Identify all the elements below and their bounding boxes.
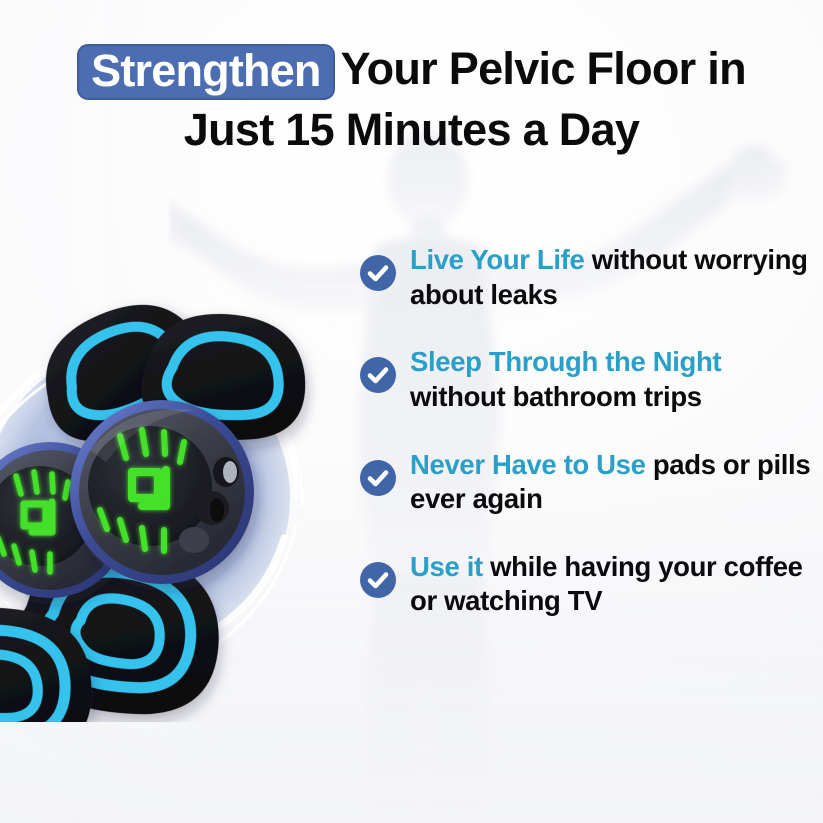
headline-highlight-badge: Strengthen xyxy=(77,44,335,100)
benefit-item-3: Never Have to Use pads or pills ever aga… xyxy=(360,448,815,517)
benefit-text-1: Live Your Life without worrying about le… xyxy=(410,243,815,312)
benefit-rest-2: without bathroom trips xyxy=(410,381,702,412)
check-circle-icon xyxy=(360,357,396,393)
benefits-list: Live Your Life without worrying about le… xyxy=(360,243,815,619)
benefit-text-4: Use it while having your coffee or watch… xyxy=(410,550,815,619)
check-circle-icon xyxy=(360,460,396,496)
benefit-text-2: Sleep Through the Night without bathroom… xyxy=(410,345,815,414)
check-circle-icon xyxy=(360,255,396,291)
check-circle-icon xyxy=(360,562,396,598)
benefit-item-1: Live Your Life without worrying about le… xyxy=(360,243,815,312)
benefit-item-2: Sleep Through the Night without bathroom… xyxy=(360,345,815,414)
headline-line-2: Just 15 Minutes a Day xyxy=(0,107,823,152)
benefit-text-3: Never Have to Use pads or pills ever aga… xyxy=(410,448,815,517)
benefit-highlight-4: Use it xyxy=(410,551,483,582)
benefit-highlight-2: Sleep Through the Night xyxy=(410,346,721,377)
marketing-product-banner: StrengthenYour Pelvic Floor in Just 15 M… xyxy=(0,0,823,823)
benefit-highlight-1: Live Your Life xyxy=(410,244,584,275)
benefit-item-4: Use it while having your coffee or watch… xyxy=(360,550,815,619)
control-unit-primary xyxy=(70,400,254,584)
headline-line-1: StrengthenYour Pelvic Floor in xyxy=(0,42,823,98)
benefit-highlight-3: Never Have to Use xyxy=(410,449,646,480)
page-title: StrengthenYour Pelvic Floor in Just 15 M… xyxy=(0,42,823,152)
headline-line-1-rest: Your Pelvic Floor in xyxy=(341,43,746,94)
product-image xyxy=(0,292,322,722)
